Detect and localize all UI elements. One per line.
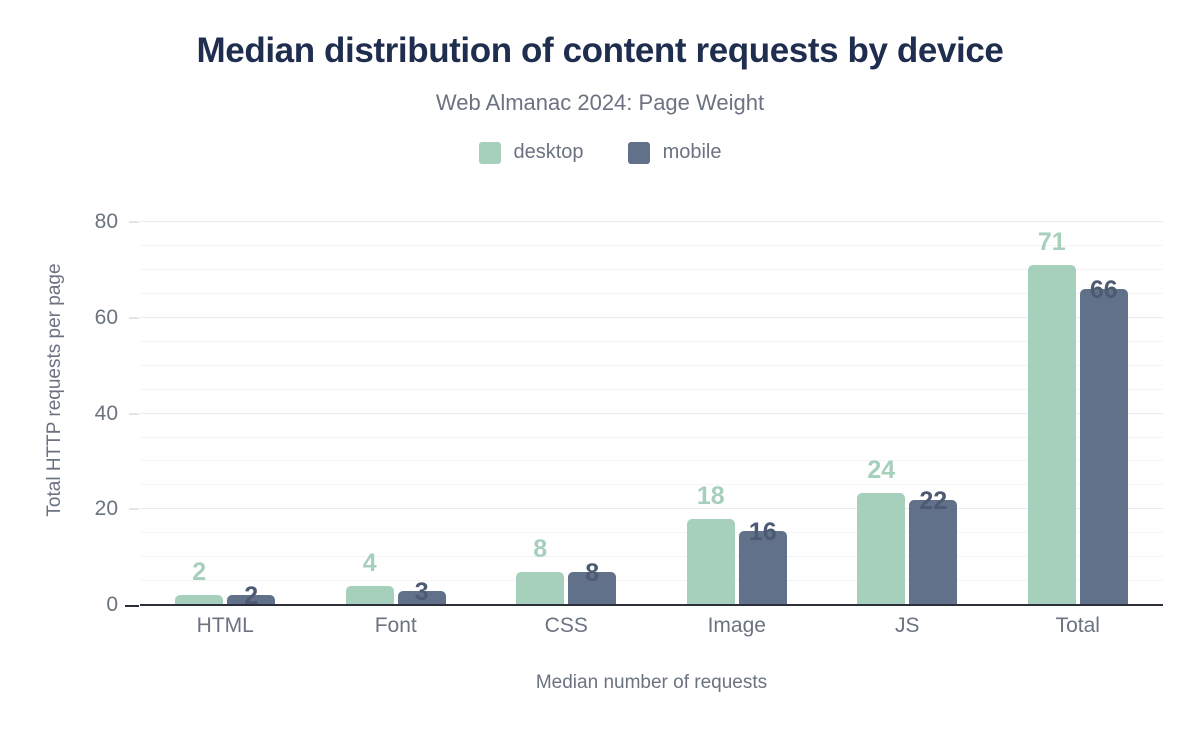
bar-group-inner: 88 [481, 203, 652, 605]
bar-value-label: 18 [697, 482, 725, 511]
bar-desktop-total[interactable]: 71 [1028, 265, 1076, 605]
y-axis-tick-mark [129, 317, 139, 318]
y-axis-tick-mark [129, 222, 139, 223]
bar-group: 88 [481, 203, 652, 605]
bar-desktop-font[interactable]: 4 [346, 586, 394, 605]
bar-value-label: 24 [867, 456, 895, 485]
x-axis-tick-label: Image [708, 614, 766, 638]
x-axis-title: Median number of requests [140, 672, 1163, 694]
page-title: Median distribution of content requests … [0, 31, 1200, 71]
legend-item-desktop[interactable]: desktop [479, 141, 584, 164]
bar-mobile-image[interactable]: 16 [739, 531, 787, 605]
plot-area: 224388181624227166 [140, 203, 1163, 605]
y-axis-tick-label: 40 [58, 402, 118, 426]
bar-group-inner: 2422 [822, 203, 993, 605]
bar-value-label: 16 [749, 518, 777, 547]
bar-value-label: 2 [192, 558, 206, 587]
bar-desktop-js[interactable]: 24 [857, 493, 905, 605]
bar-group: 22 [140, 203, 311, 605]
x-axis-tick-label: Total [1056, 614, 1100, 638]
bar-value-label: 66 [1090, 276, 1118, 305]
chart-legend: desktop mobile [0, 141, 1200, 164]
y-axis-tick-label: 60 [58, 306, 118, 330]
bar-group-inner: 22 [140, 203, 311, 605]
bar-group: 7166 [993, 203, 1164, 605]
y-axis-tick-zero-mark [125, 605, 139, 607]
legend-label-desktop: desktop [514, 141, 584, 164]
x-axis-line [140, 604, 1163, 606]
x-axis-tick-label: JS [895, 614, 920, 638]
bar-mobile-font[interactable]: 3 [398, 591, 446, 605]
y-axis-tick-label: 0 [58, 593, 118, 617]
chart-subtitle: Web Almanac 2024: Page Weight [0, 90, 1200, 116]
bar-group-inner: 43 [311, 203, 482, 605]
bar-value-label: 3 [415, 578, 429, 607]
chart-figure: Median distribution of content requests … [0, 0, 1200, 742]
bar-group-inner: 1816 [652, 203, 823, 605]
x-axis-tick-label: Font [375, 614, 417, 638]
bar-group-inner: 7166 [993, 203, 1164, 605]
legend-label-mobile: mobile [663, 141, 722, 164]
y-axis-tick-mark [129, 509, 139, 510]
x-axis-tick-label: HTML [197, 614, 254, 638]
bar-group: 1816 [652, 203, 823, 605]
bar-mobile-js[interactable]: 22 [909, 500, 957, 605]
bar-value-label: 2 [244, 582, 258, 611]
y-axis-title: Total HTTP requests per page [44, 180, 66, 600]
bar-group: 2422 [822, 203, 993, 605]
legend-swatch-desktop [479, 142, 501, 164]
y-axis-tick-mark [129, 413, 139, 414]
bar-value-label: 71 [1038, 228, 1066, 257]
y-axis-tick-label: 20 [58, 497, 118, 521]
bar-group: 43 [311, 203, 482, 605]
bar-value-label: 4 [363, 549, 377, 578]
bar-mobile-css[interactable]: 8 [568, 572, 616, 606]
bar-value-label: 22 [919, 487, 947, 516]
bar-desktop-image[interactable]: 18 [687, 519, 735, 605]
legend-swatch-mobile [628, 142, 650, 164]
y-axis-tick-label: 80 [58, 210, 118, 234]
bar-desktop-css[interactable]: 8 [516, 572, 564, 606]
legend-item-mobile[interactable]: mobile [628, 141, 722, 164]
x-axis-tick-label: CSS [545, 614, 588, 638]
bar-mobile-total[interactable]: 66 [1080, 289, 1128, 605]
bar-value-label: 8 [585, 559, 599, 588]
bar-value-label: 8 [533, 535, 547, 564]
